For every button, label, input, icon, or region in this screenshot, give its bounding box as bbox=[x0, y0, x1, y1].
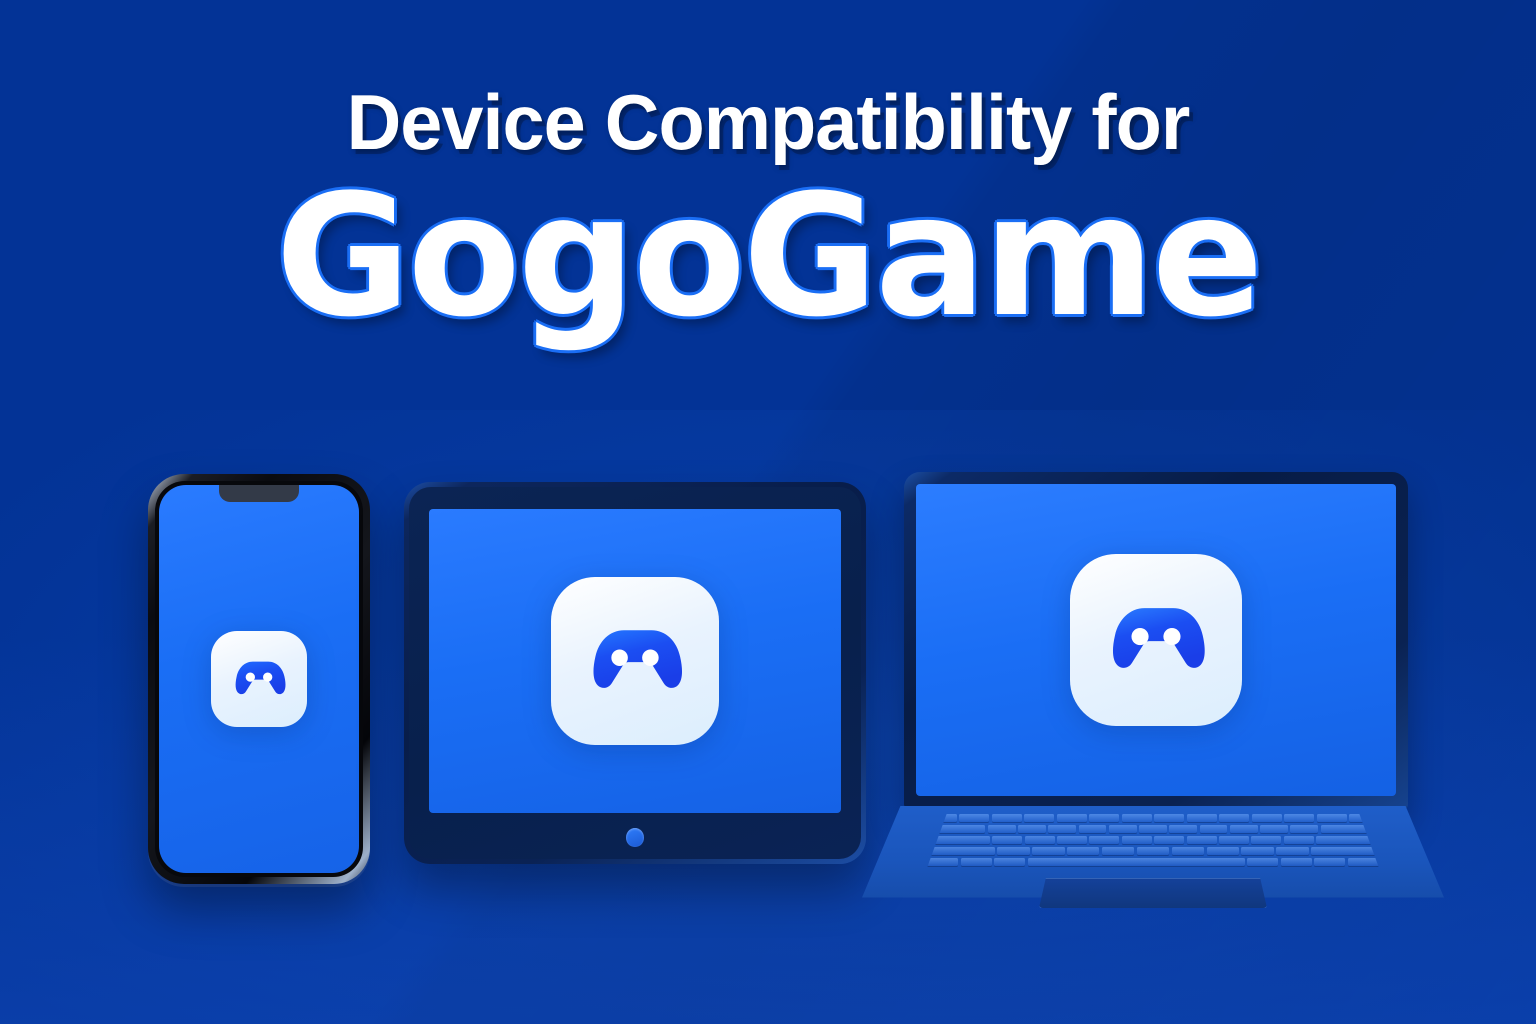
key bbox=[1122, 836, 1152, 844]
key bbox=[1048, 825, 1076, 833]
key bbox=[1219, 814, 1249, 822]
key bbox=[1247, 858, 1278, 866]
keyboard-row bbox=[927, 858, 1379, 866]
key bbox=[1102, 847, 1134, 855]
key bbox=[1067, 847, 1099, 855]
key bbox=[1230, 825, 1258, 833]
app-icon-smartphone[interactable] bbox=[211, 631, 307, 727]
tablet-home-button-icon[interactable] bbox=[626, 828, 644, 847]
gamepad-icon bbox=[1099, 583, 1213, 697]
device-laptop[interactable] bbox=[862, 464, 1444, 934]
key bbox=[1154, 836, 1184, 844]
devices-stage bbox=[0, 464, 1536, 1024]
key bbox=[1089, 836, 1119, 844]
key bbox=[1057, 836, 1087, 844]
tablet-frame bbox=[409, 487, 861, 859]
key bbox=[927, 858, 958, 866]
key bbox=[1260, 825, 1288, 833]
smartphone-frame bbox=[155, 481, 363, 877]
key bbox=[992, 814, 1022, 822]
laptop-trackpad-icon[interactable] bbox=[1039, 878, 1267, 908]
keyboard-row bbox=[927, 814, 1379, 822]
gamepad-icon bbox=[580, 606, 690, 716]
key bbox=[1089, 814, 1119, 822]
key bbox=[927, 847, 995, 855]
key bbox=[961, 858, 992, 866]
key bbox=[1025, 836, 1055, 844]
key bbox=[959, 814, 989, 822]
key bbox=[1024, 814, 1054, 822]
key bbox=[1207, 847, 1239, 855]
laptop-lid bbox=[904, 472, 1408, 810]
key bbox=[1252, 814, 1282, 822]
device-smartphone[interactable] bbox=[148, 474, 370, 884]
key bbox=[1139, 825, 1167, 833]
headline-block: Device Compatibility for GogoGame bbox=[0, 84, 1536, 340]
key bbox=[1079, 825, 1107, 833]
key bbox=[1284, 814, 1314, 822]
key bbox=[1187, 814, 1217, 822]
device-tablet[interactable] bbox=[404, 482, 866, 864]
key bbox=[988, 825, 1016, 833]
key bbox=[992, 836, 1022, 844]
smartphone-screen[interactable] bbox=[159, 485, 359, 873]
key bbox=[1187, 836, 1217, 844]
key bbox=[1018, 825, 1046, 833]
key bbox=[997, 847, 1029, 855]
key bbox=[1109, 825, 1137, 833]
key bbox=[1276, 847, 1308, 855]
key bbox=[1172, 847, 1204, 855]
phone-notch-icon bbox=[219, 485, 299, 502]
app-icon-laptop[interactable] bbox=[1070, 554, 1242, 726]
key bbox=[1122, 814, 1152, 822]
key bbox=[1284, 836, 1314, 844]
gamepad-icon bbox=[228, 648, 290, 710]
poster-canvas: Device Compatibility for GogoGame bbox=[0, 0, 1536, 1024]
key bbox=[1241, 847, 1273, 855]
key bbox=[1137, 847, 1169, 855]
keyboard-row bbox=[927, 825, 1379, 833]
key bbox=[1154, 814, 1184, 822]
kicker-text: Device Compatibility for bbox=[23, 84, 1513, 160]
key bbox=[1311, 847, 1379, 855]
key bbox=[1169, 825, 1197, 833]
key bbox=[1219, 836, 1249, 844]
spacebar-key bbox=[1028, 858, 1245, 866]
keyboard-row bbox=[927, 836, 1379, 844]
app-icon-tablet[interactable] bbox=[551, 577, 719, 745]
key bbox=[1281, 858, 1312, 866]
key bbox=[1317, 814, 1347, 822]
key bbox=[1314, 858, 1345, 866]
brand-title: GogoGame bbox=[15, 172, 1520, 340]
tablet-screen[interactable] bbox=[429, 509, 841, 813]
keyboard-row bbox=[927, 847, 1379, 855]
key bbox=[1290, 825, 1318, 833]
laptop-screen[interactable] bbox=[916, 484, 1396, 796]
key bbox=[1032, 847, 1064, 855]
key bbox=[994, 858, 1025, 866]
key bbox=[1200, 825, 1228, 833]
key bbox=[1348, 858, 1379, 866]
key bbox=[1057, 814, 1087, 822]
laptop-keyboard-icon[interactable] bbox=[927, 812, 1379, 868]
key bbox=[1251, 836, 1281, 844]
